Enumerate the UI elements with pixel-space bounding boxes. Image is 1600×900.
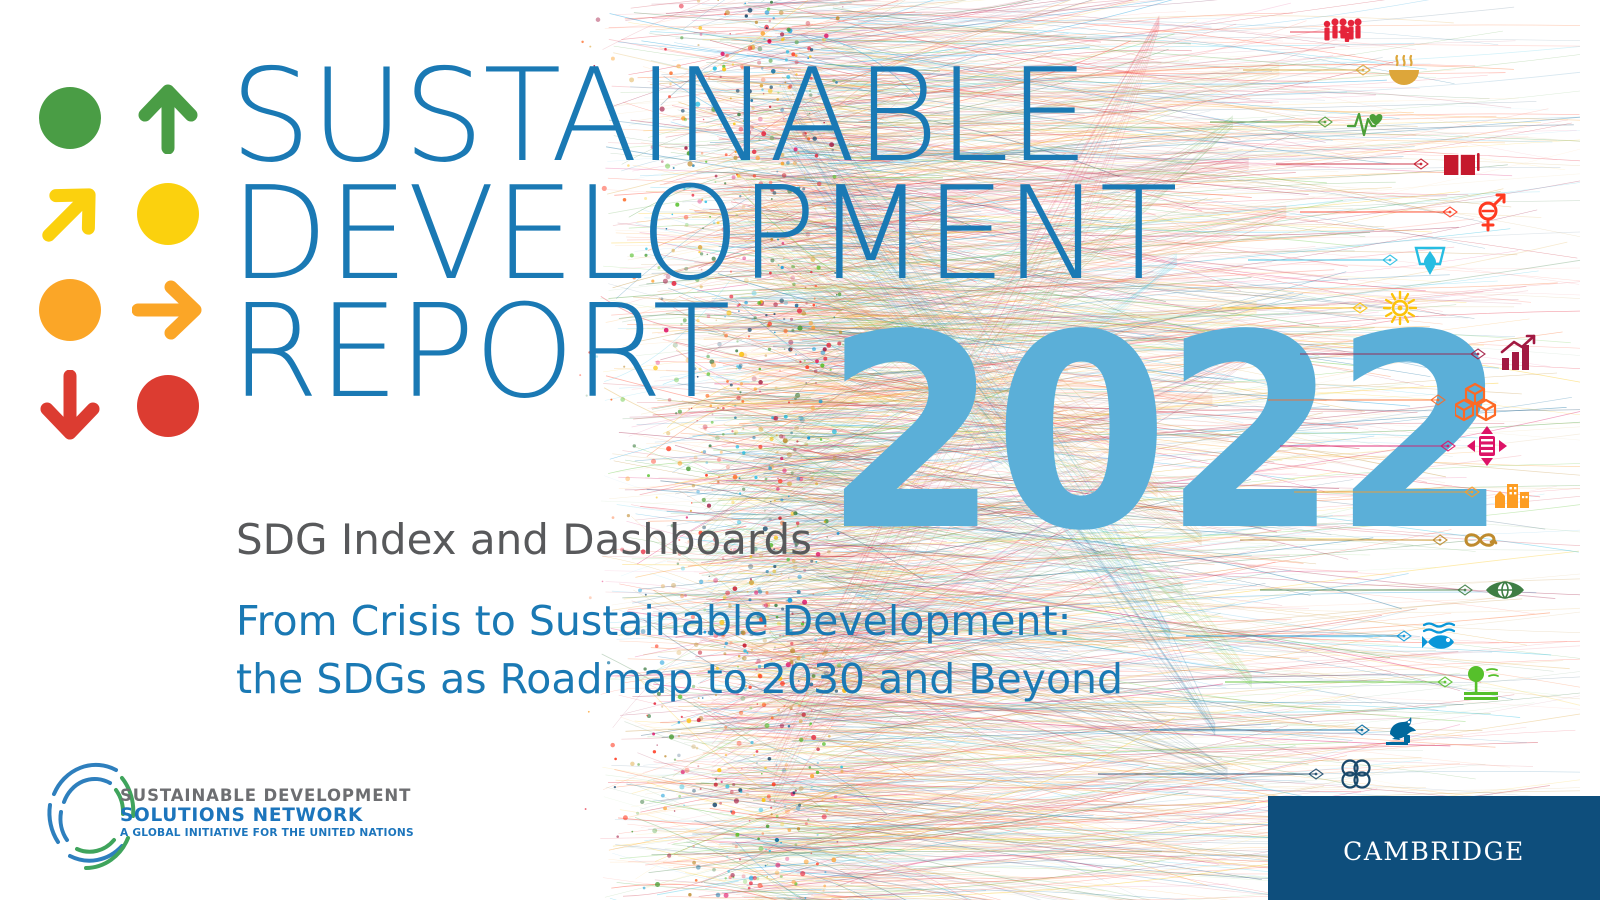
sdsn-logo: SUSTAINABLE DEVELOPMENT SOLUTIONS NETWOR… — [36, 748, 366, 878]
page-title: SUSTAINABLE DEVELOPMENT REPORT — [230, 58, 1177, 411]
tagline: From Crisis to Sustainable Development: … — [236, 592, 1123, 708]
tagline-line-2: the SDGs as Roadmap to 2030 and Beyond — [236, 650, 1123, 708]
yellow-circle — [137, 183, 199, 245]
report-cover: SUSTAINABLE DEVELOPMENT REPORT 2022 SDG … — [0, 0, 1600, 900]
red-circle — [137, 375, 199, 437]
orange-circle — [34, 274, 106, 346]
subtitle: SDG Index and Dashboards — [236, 515, 812, 564]
orange-right-arrow — [132, 274, 204, 346]
sdsn-logo-text: SUSTAINABLE DEVELOPMENT SOLUTIONS NETWOR… — [120, 786, 414, 841]
red-down-arrow — [34, 370, 106, 442]
sdsn-line-3: A GLOBAL INITIATIVE FOR THE UNITED NATIO… — [120, 827, 414, 841]
cambridge-publisher-logo: CAMBRIDGE — [1268, 796, 1600, 900]
cambridge-wordmark: CAMBRIDGE — [1343, 828, 1525, 869]
title-line-3: REPORT — [230, 294, 1177, 412]
yellow-up-right-arrow — [34, 178, 106, 250]
yellow-circle — [132, 178, 204, 250]
title-line-1: SUSTAINABLE — [230, 58, 1177, 176]
sdsn-line-2: SOLUTIONS NETWORK — [120, 805, 414, 827]
green-up-arrow — [132, 82, 204, 154]
tagline-line-1: From Crisis to Sustainable Development: — [236, 592, 1123, 650]
green-circle — [34, 82, 106, 154]
title-line-2: DEVELOPMENT — [230, 176, 1177, 294]
green-circle — [39, 87, 101, 149]
sdg-trend-glyph-block — [34, 82, 204, 434]
red-circle — [132, 370, 204, 442]
sdsn-line-1: SUSTAINABLE DEVELOPMENT — [120, 786, 414, 805]
orange-circle — [39, 279, 101, 341]
